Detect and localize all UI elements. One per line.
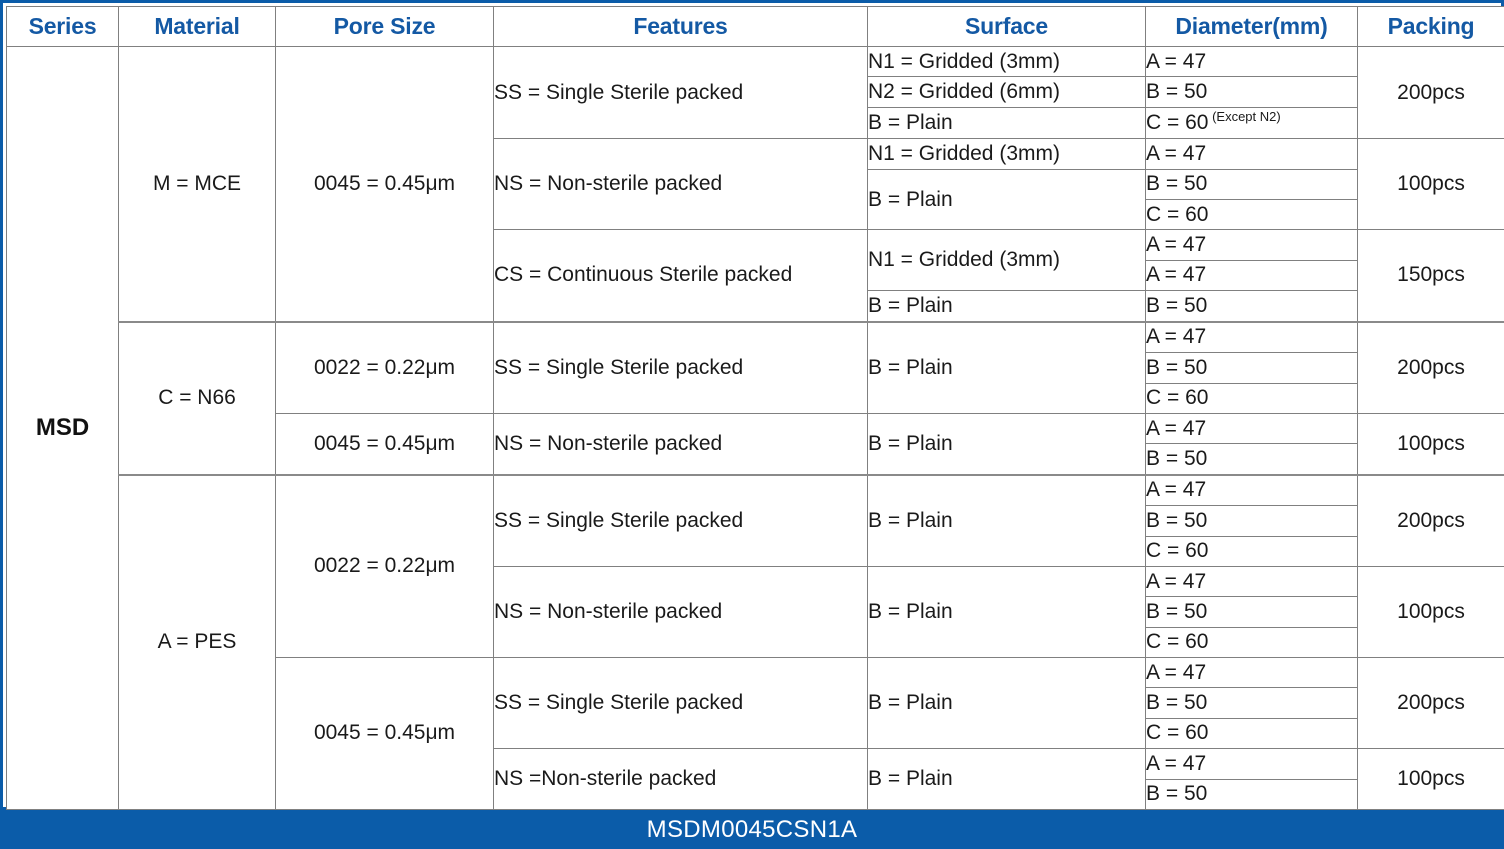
diameter-value: C = 60 [1146,203,1208,226]
diameter-value: B = 50 [1146,509,1207,532]
features-cell: NS = Non-sterile packed [494,413,868,474]
packing-cell: 200pcs [1358,47,1504,139]
column-header-series: Series [7,7,119,47]
diameter-value: A = 47 [1146,50,1206,73]
diameter-cell: B = 50 [1146,597,1358,627]
features-cell: CS = Continuous Sterile packed [494,230,868,322]
diameter-value: C = 60 [1146,721,1208,744]
diameter-cell: B = 50 [1146,353,1358,383]
features-cell: NS =Non-sterile packed [494,749,868,810]
pore-size-cell: 0045 = 0.45μm [276,413,494,474]
part-number-bar: MSDM0045CSN1A [0,810,1504,849]
spec-table-page: Series Material Pore Size Features Surfa… [0,0,1504,849]
diameter-cell: A = 47 [1146,475,1358,506]
table-header: Series Material Pore Size Features Surfa… [7,7,1504,47]
diameter-value: A = 47 [1146,142,1206,165]
diameter-cell: A = 47 [1146,47,1358,77]
diameter-cell: B = 50 [1146,444,1358,475]
diameter-value: A = 47 [1146,417,1206,440]
table-body: MSDM = MCE0045 = 0.45μmSS = Single Steri… [7,47,1504,810]
packing-cell: 200pcs [1358,475,1504,567]
diameter-value: A = 47 [1146,661,1206,684]
packing-cell: 100pcs [1358,413,1504,474]
packing-cell: 100pcs [1358,139,1504,230]
features-cell: NS = Non-sterile packed [494,566,868,657]
diameter-cell: A = 47 [1146,139,1358,169]
diameter-value: A = 47 [1146,752,1206,775]
diameter-value: A = 47 [1146,325,1206,348]
diameter-value: C = 60 [1146,111,1208,134]
diameter-cell: C = 60 [1146,200,1358,230]
features-cell: SS = Single Sterile packed [494,475,868,567]
features-cell: NS = Non-sterile packed [494,139,868,230]
diameter-cell: A = 47 [1146,322,1358,353]
pore-size-cell: 0045 = 0.45μm [276,658,494,810]
diameter-cell: B = 50 [1146,77,1358,107]
features-cell: SS = Single Sterile packed [494,658,868,749]
diameter-cell: A = 47 [1146,413,1358,443]
features-cell: SS = Single Sterile packed [494,47,868,139]
features-cell: SS = Single Sterile packed [494,322,868,414]
diameter-cell: A = 47 [1146,749,1358,779]
surface-cell: B = Plain [868,291,1146,322]
table-row: MSDM = MCE0045 = 0.45μmSS = Single Steri… [7,47,1504,77]
diameter-value: B = 50 [1146,172,1207,195]
packing-cell: 150pcs [1358,230,1504,322]
diameter-cell: B = 50 [1146,688,1358,718]
diameter-cell: A = 47 [1146,230,1358,260]
diameter-cell: C = 60 [1146,383,1358,413]
diameter-cell: B = 50 [1146,506,1358,536]
surface-cell: B = Plain [868,475,1146,567]
diameter-value: A = 47 [1146,233,1206,256]
surface-cell: B = Plain [868,322,1146,414]
diameter-cell: A = 47 [1146,658,1358,688]
column-header-features: Features [494,7,868,47]
diameter-cell: C = 60 [1146,627,1358,657]
column-header-diameter: Diameter(mm) [1146,7,1358,47]
column-header-material: Material [119,7,276,47]
diameter-cell: B = 50 [1146,291,1358,322]
packing-cell: 100pcs [1358,566,1504,657]
material-cell: C = N66 [119,322,276,475]
surface-cell: B = Plain [868,658,1146,749]
surface-cell: B = Plain [868,566,1146,657]
material-cell: A = PES [119,475,276,810]
diameter-value: C = 60 [1146,386,1208,409]
diameter-cell: C = 60 (Except N2) [1146,107,1358,139]
header-row: Series Material Pore Size Features Surfa… [7,7,1504,47]
diameter-cell: A = 47 [1146,260,1358,290]
diameter-value: B = 50 [1146,600,1207,623]
pore-size-cell: 0022 = 0.22μm [276,322,494,414]
product-code-table: Series Material Pore Size Features Surfa… [6,6,1504,810]
column-header-pore-size: Pore Size [276,7,494,47]
diameter-cell: B = 50 [1146,779,1358,809]
surface-cell: N1 = Gridded (3mm) [868,139,1146,169]
diameter-cell: C = 60 [1146,536,1358,566]
diameter-value: C = 60 [1146,630,1208,653]
diameter-value: B = 50 [1146,80,1207,103]
surface-cell: B = Plain [868,749,1146,810]
packing-cell: 200pcs [1358,322,1504,414]
diameter-value: B = 50 [1146,782,1207,805]
table-row: A = PES0022 = 0.22μmSS = Single Sterile … [7,475,1504,506]
part-number-text: MSDM0045CSN1A [647,816,858,844]
column-header-surface: Surface [868,7,1146,47]
surface-cell: B = Plain [868,413,1146,474]
diameter-cell: A = 47 [1146,566,1358,596]
diameter-value: A = 47 [1146,478,1206,501]
table-frame: Series Material Pore Size Features Surfa… [0,0,1504,810]
pore-size-cell: 0022 = 0.22μm [276,475,494,658]
surface-cell: B = Plain [868,107,1146,139]
diameter-value: B = 50 [1146,691,1207,714]
diameter-value: A = 47 [1146,570,1206,593]
material-cell: M = MCE [119,47,276,322]
column-header-packing: Packing [1358,7,1504,47]
surface-cell: N1 = Gridded (3mm) [868,47,1146,77]
table-row: C = N660022 = 0.22μmSS = Single Sterile … [7,322,1504,353]
surface-cell: N2 = Gridded (6mm) [868,77,1146,107]
surface-cell: N1 = Gridded (3mm) [868,230,1146,291]
series-cell: MSD [7,47,119,810]
packing-cell: 100pcs [1358,749,1504,810]
pore-size-cell: 0045 = 0.45μm [276,47,494,322]
diameter-value: A = 47 [1146,263,1206,286]
diameter-value: B = 50 [1146,447,1207,470]
diameter-value: C = 60 [1146,539,1208,562]
diameter-note: (Except N2) [1208,109,1280,124]
packing-cell: 200pcs [1358,658,1504,749]
surface-cell: B = Plain [868,169,1146,230]
diameter-value: B = 50 [1146,356,1207,379]
diameter-cell: B = 50 [1146,169,1358,199]
diameter-value: B = 50 [1146,294,1207,317]
diameter-cell: C = 60 [1146,718,1358,748]
